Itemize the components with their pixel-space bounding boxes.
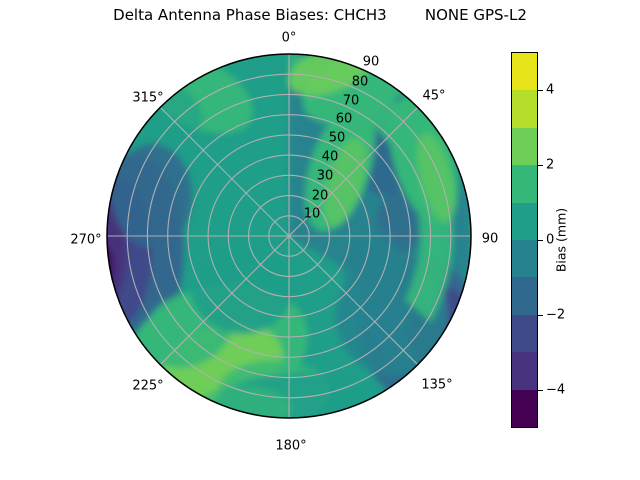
colorbar: 4 2 0 −2 −4 Bias (mm)	[0, 0, 640, 480]
colorbar-segment	[512, 277, 537, 314]
colorbar-tick-neg2	[538, 315, 543, 316]
colorbar-ticklabel-neg4: −4	[546, 383, 565, 398]
colorbar-segment	[512, 390, 537, 427]
colorbar-segment	[512, 53, 537, 90]
colorbar-segment	[512, 165, 537, 202]
colorbar-ticklabel-4: 4	[546, 83, 554, 98]
colorbar-gradient	[511, 52, 538, 428]
colorbar-ticklabel-neg2: −2	[546, 308, 565, 323]
colorbar-ticklabel-2: 2	[546, 158, 554, 173]
colorbar-segment	[512, 240, 537, 277]
colorbar-tick-neg4	[538, 390, 543, 391]
colorbar-segment	[512, 203, 537, 240]
colorbar-segment	[512, 128, 537, 165]
colorbar-axis-label: Bias (mm)	[554, 208, 569, 272]
colorbar-segment	[512, 352, 537, 389]
colorbar-tick-0	[538, 240, 543, 241]
colorbar-segment	[512, 315, 537, 352]
colorbar-tick-4	[538, 90, 543, 91]
colorbar-tick-2	[538, 165, 543, 166]
colorbar-segment	[512, 90, 537, 127]
figure-canvas: Delta Antenna Phase Biases: CHCH3 NONE G…	[0, 0, 640, 480]
